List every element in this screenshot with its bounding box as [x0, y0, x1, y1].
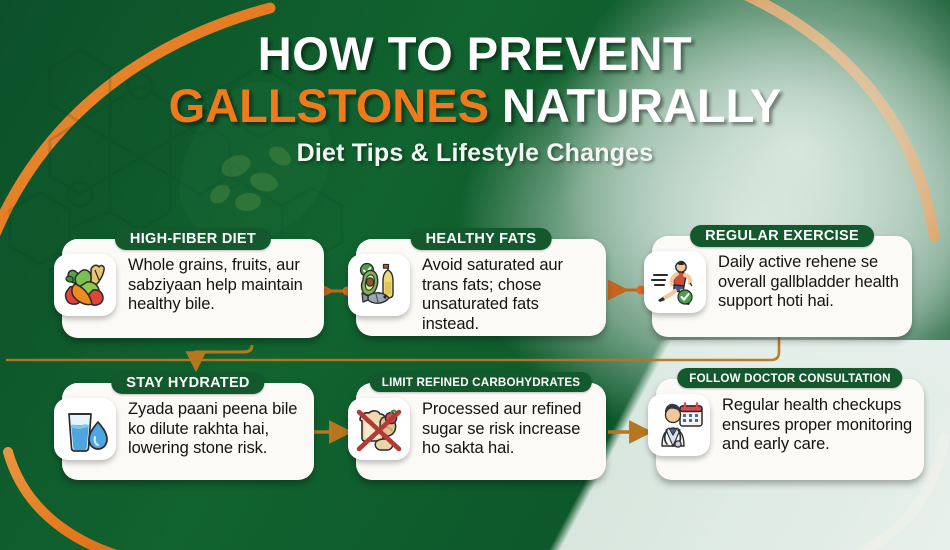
- card-text-follow-doctor-consultation: Regular health checkups ensures proper m…: [722, 396, 915, 455]
- title-line-1: HOW TO PREVENT: [0, 30, 950, 77]
- card-badge-limit-refined-carbohydrates: LIMIT REFINED CARBOHYDRATES: [370, 372, 592, 392]
- subtitle: Diet Tips & Lifestyle Changes: [0, 139, 950, 168]
- card-stay-hydrated[interactable]: STAY HYDRATED Zyada paani peena bile ko …: [62, 372, 314, 480]
- card-text-regular-exercise: Daily active rehene se overall gallbladd…: [718, 253, 903, 312]
- card-text-stay-hydrated: Zyada paani peena bile ko dilute rakhta …: [128, 400, 305, 459]
- card-badge-regular-exercise: REGULAR EXERCISE: [690, 225, 874, 247]
- header: HOW TO PREVENT GALLSTONES NATURALLY Diet…: [0, 30, 950, 168]
- card-regular-exercise[interactable]: REGULAR EXERCISE: [652, 225, 912, 337]
- running-person-icon: [644, 251, 706, 313]
- doctor-icon: [648, 394, 710, 456]
- card-badge-high-fiber-diet: HIGH-FIBER DIET: [115, 228, 271, 250]
- card-text-limit-refined-carbohydrates: Processed aur refined sugar se risk incr…: [422, 400, 597, 459]
- title-rest-word: NATURALLY: [502, 79, 781, 132]
- card-high-fiber-diet[interactable]: HIGH-FIBER DIET Whole grains, fruits, au…: [62, 228, 324, 338]
- card-badge-healthy-fats: HEALTHY FATS: [411, 228, 552, 250]
- infographic-canvas: HOW TO PREVENT GALLSTONES NATURALLY Diet…: [0, 0, 950, 550]
- avocado-fish-oil-icon: [348, 254, 410, 316]
- title-line-2: GALLSTONES NATURALLY: [0, 82, 950, 130]
- card-text-high-fiber-diet: Whole grains, fruits, aur sabziyaan help…: [128, 256, 315, 315]
- title-accent-word: GALLSTONES: [169, 79, 489, 132]
- vegetables-icon: [54, 254, 116, 316]
- card-text-healthy-fats: Avoid saturated aur trans fats; chose un…: [422, 256, 597, 335]
- card-follow-doctor-consultation[interactable]: FOLLOW DOCTOR CONSULTATION: [656, 368, 924, 480]
- card-badge-follow-doctor-consultation: FOLLOW DOCTOR CONSULTATION: [677, 368, 902, 388]
- water-glass-icon: [54, 398, 116, 460]
- card-limit-refined-carbohydrates[interactable]: LIMIT REFINED CARBOHYDRATES Processed au…: [356, 372, 606, 480]
- no-bread-sugar-icon: [348, 398, 410, 460]
- card-healthy-fats[interactable]: HEALTHY FATS Avoid saturated aur trans f…: [356, 228, 606, 336]
- card-badge-stay-hydrated: STAY HYDRATED: [111, 372, 264, 394]
